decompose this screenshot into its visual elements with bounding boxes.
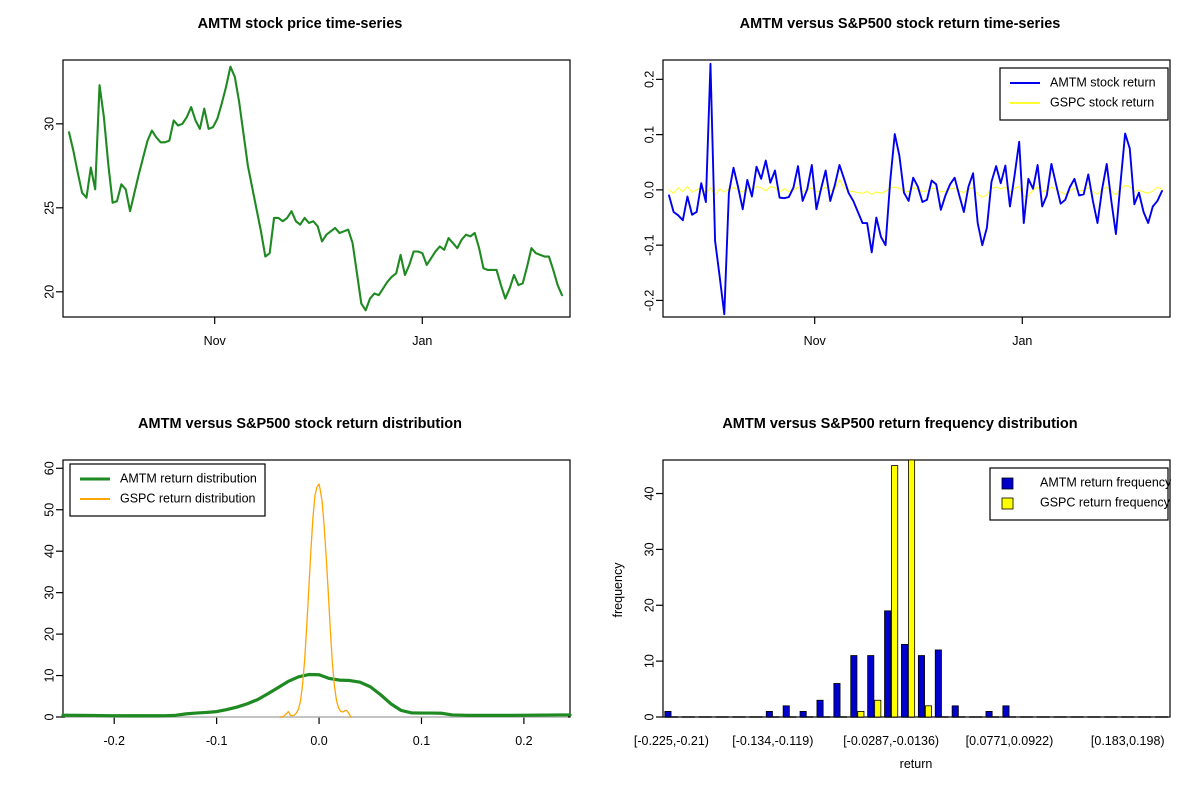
panel-price-timeseries: AMTM stock price time-series 202530NovJa… [0, 0, 600, 400]
price-chart-svg: AMTM stock price time-series 202530NovJa… [0, 0, 600, 400]
svg-text:20: 20 [42, 627, 56, 641]
histogram-y-axis-label: frequency [611, 562, 625, 618]
svg-text:30: 30 [42, 117, 56, 131]
histogram-axes: 010203040 [642, 487, 663, 721]
histogram-bin-labels: [-0.225,-0.21)[-0.134,-0.119)[-0.0287,-0… [634, 734, 1165, 748]
svg-text:20: 20 [42, 285, 56, 299]
panel-return-frequency: AMTM versus S&P500 return frequency dist… [600, 400, 1200, 800]
returns-axes: -0.2-0.10.00.10.2NovJan [642, 71, 1032, 348]
svg-text:0.0: 0.0 [310, 734, 327, 748]
svg-text:AMTM stock return: AMTM stock return [1050, 75, 1156, 89]
svg-text:Nov: Nov [804, 334, 827, 348]
price-chart-title: AMTM stock price time-series [198, 16, 403, 32]
density-series-group [63, 484, 570, 717]
svg-text:60: 60 [42, 461, 56, 475]
svg-text:[0.0771,0.0922): [0.0771,0.0922) [966, 734, 1054, 748]
svg-text:[-0.0287,-0.0136): [-0.0287,-0.0136) [843, 734, 939, 748]
svg-text:30: 30 [42, 586, 56, 600]
svg-text:Jan: Jan [1012, 334, 1032, 348]
svg-text:-0.1: -0.1 [642, 234, 656, 256]
svg-text:-0.2: -0.2 [103, 734, 125, 748]
svg-text:[-0.134,-0.119): [-0.134,-0.119) [732, 734, 813, 748]
density-legend: AMTM return distributionGSPC return dist… [70, 464, 265, 516]
svg-text:GSPC return frequency: GSPC return frequency [1040, 495, 1171, 509]
density-chart-svg: AMTM versus S&P500 stock return distribu… [0, 400, 600, 800]
price-axes: 202530NovJan [42, 117, 432, 348]
panel-return-distribution: AMTM versus S&P500 stock return distribu… [0, 400, 600, 800]
histogram-chart-svg: AMTM versus S&P500 return frequency dist… [600, 400, 1200, 800]
price-plot-box [63, 60, 570, 317]
svg-text:-0.1: -0.1 [206, 734, 228, 748]
histogram-chart-title: AMTM versus S&P500 return frequency dist… [722, 416, 1077, 432]
svg-text:-0.2: -0.2 [642, 290, 656, 312]
svg-text:AMTM return distribution: AMTM return distribution [120, 471, 257, 485]
svg-text:Jan: Jan [412, 334, 432, 348]
returns-chart-svg: AMTM versus S&P500 stock return time-ser… [600, 0, 1200, 400]
panel-return-timeseries: AMTM versus S&P500 stock return time-ser… [600, 0, 1200, 400]
svg-text:0.1: 0.1 [642, 126, 656, 143]
svg-text:0.0: 0.0 [642, 181, 656, 198]
returns-chart-title: AMTM versus S&P500 stock return time-ser… [740, 16, 1061, 32]
svg-text:0: 0 [642, 713, 656, 720]
svg-text:Nov: Nov [204, 334, 227, 348]
histogram-x-axis-label: return [900, 757, 933, 771]
svg-text:0.2: 0.2 [642, 71, 656, 88]
svg-text:AMTM return frequency: AMTM return frequency [1040, 475, 1172, 489]
svg-text:25: 25 [42, 201, 56, 215]
svg-text:[-0.225,-0.21): [-0.225,-0.21) [634, 734, 709, 748]
svg-text:0.1: 0.1 [413, 734, 430, 748]
histogram-legend: AMTM return frequencyGSPC return frequen… [990, 468, 1172, 520]
svg-text:0: 0 [42, 713, 56, 720]
svg-text:GSPC return distribution: GSPC return distribution [120, 491, 256, 505]
plot-grid: AMTM stock price time-series 202530NovJa… [0, 0, 1200, 800]
svg-text:20: 20 [642, 598, 656, 612]
svg-text:GSPC stock return: GSPC stock return [1050, 95, 1154, 109]
density-chart-title: AMTM versus S&P500 stock return distribu… [138, 416, 462, 432]
svg-text:10: 10 [642, 654, 656, 668]
svg-text:0.2: 0.2 [515, 734, 532, 748]
svg-text:50: 50 [42, 503, 56, 517]
svg-text:40: 40 [642, 487, 656, 501]
svg-text:40: 40 [42, 544, 56, 558]
returns-legend: AMTM stock returnGSPC stock return [1000, 68, 1168, 120]
svg-text:10: 10 [42, 669, 56, 683]
price-series-group [69, 67, 562, 311]
svg-text:30: 30 [642, 542, 656, 556]
svg-text:[0.183,0.198): [0.183,0.198) [1091, 734, 1165, 748]
